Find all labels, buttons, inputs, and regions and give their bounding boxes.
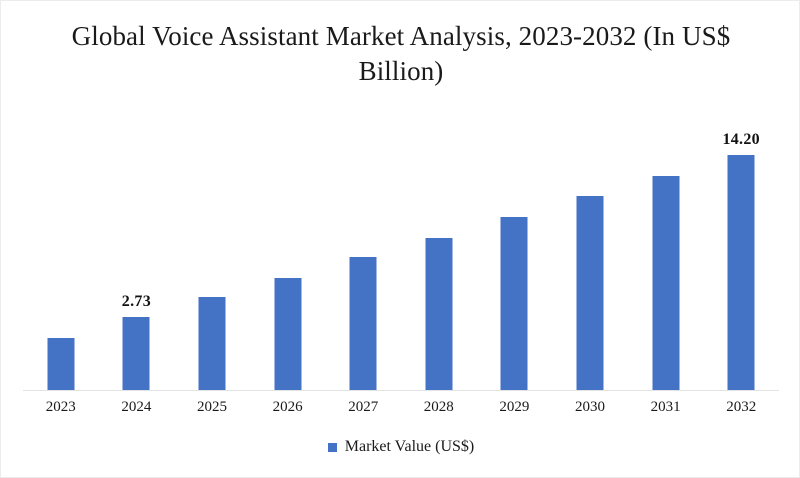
bar-value-label-2032: 14.20 (722, 131, 760, 149)
x-tick-label-2032: 2032 (703, 399, 779, 416)
bar-slot (401, 121, 477, 390)
bar-2025[interactable] (198, 297, 225, 390)
bar-slot (628, 121, 704, 390)
bar-2030[interactable] (576, 196, 603, 390)
bar-2032[interactable] (728, 155, 755, 390)
bar-slot: 14.20 (703, 121, 779, 390)
bar-2027[interactable] (350, 257, 377, 390)
x-axis-tick-labels: 2023202420252026202720282029203020312032 (23, 399, 779, 423)
bar-2026[interactable] (274, 278, 301, 390)
bar-2031[interactable] (652, 176, 679, 390)
bar-slot (325, 121, 401, 390)
x-tick-label-2029: 2029 (477, 399, 553, 416)
bar-2028[interactable] (425, 238, 452, 390)
x-tick-label-2031: 2031 (628, 399, 704, 416)
chart-title: Global Voice Assistant Market Analysis, … (61, 19, 741, 88)
legend-label-market-value: Market Value (US$) (345, 438, 474, 456)
bar-2023[interactable] (47, 338, 74, 390)
x-tick-label-2027: 2027 (325, 399, 401, 416)
x-tick-label-2024: 2024 (99, 399, 175, 416)
x-tick-label-2030: 2030 (552, 399, 628, 416)
x-tick-label-2023: 2023 (23, 399, 99, 416)
bar-2029[interactable] (501, 217, 528, 390)
x-tick-label-2025: 2025 (174, 399, 250, 416)
bar-slot (477, 121, 553, 390)
x-tick-label-2028: 2028 (401, 399, 477, 416)
bar-slot (174, 121, 250, 390)
x-axis-baseline (23, 390, 779, 391)
bar-value-label-2024: 2.73 (122, 293, 151, 311)
bar-series-market-value: 2.7314.20 (23, 121, 779, 390)
bar-slot (23, 121, 99, 390)
bar-slot: 2.73 (99, 121, 175, 390)
bar-slot (552, 121, 628, 390)
chart-container: Global Voice Assistant Market Analysis, … (0, 0, 800, 478)
x-tick-label-2026: 2026 (250, 399, 326, 416)
chart-legend: Market Value (US$) (1, 438, 800, 456)
bar-2024[interactable] (123, 317, 150, 390)
legend-swatch-market-value (328, 443, 337, 452)
bar-slot (250, 121, 326, 390)
